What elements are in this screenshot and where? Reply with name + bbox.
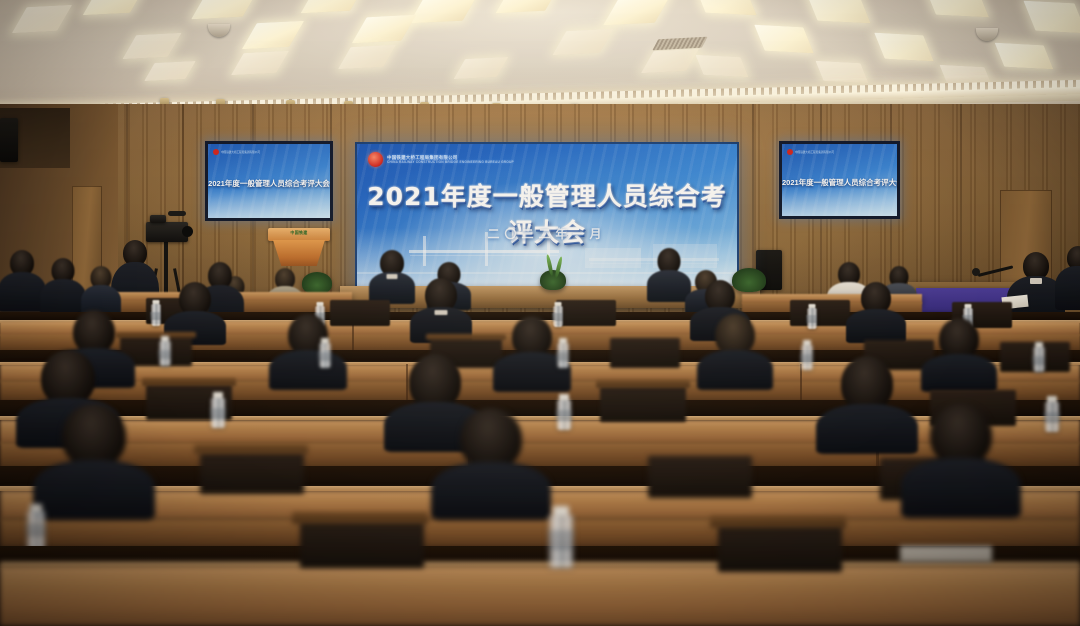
bottle-label (158, 350, 171, 359)
person-head (460, 408, 522, 470)
water-bottle (150, 300, 161, 326)
side-screen-title: 2021年度一般管理人员综合考评大会 (782, 177, 897, 188)
screen-logo: 中国铁建大桥工程局集团有限公司 (787, 149, 834, 155)
person-torso (697, 350, 773, 390)
side-screen-title: 2021年度一般管理人员综合考评大会 (208, 178, 330, 189)
person-torso (33, 460, 155, 520)
chair-row4-frame (142, 378, 236, 386)
bridge-motif (409, 250, 559, 253)
chair-row6 (718, 524, 842, 572)
screen-company-logo: 中国铁建大桥工程局集团有限公司 CHINA RAILWAY CONSTRUCTI… (368, 152, 514, 167)
desk-document (900, 546, 992, 562)
person-torso (431, 462, 551, 520)
chair-row5 (200, 452, 304, 494)
water-bottle (556, 338, 569, 368)
bottle-label (318, 352, 331, 361)
attendee-row2-d (848, 282, 904, 334)
screen-logo-text: 中国铁建大桥工程局集团有限公司 (221, 151, 260, 154)
bottle-label (548, 530, 574, 550)
ceiling-light-panel (695, 55, 748, 77)
lectern-top: 中国铁建 (268, 228, 330, 241)
water-bottle (210, 392, 226, 428)
company-logo-mark-icon (787, 149, 793, 155)
chair-row2 (790, 300, 850, 326)
desk-seam (352, 322, 354, 352)
screen-artwork (208, 188, 330, 218)
attendee-row4-c (820, 356, 914, 432)
bottle-cap (30, 504, 42, 511)
attendee-front-1 (370, 250, 414, 298)
wall-speaker-left (0, 118, 18, 162)
lectern-body (273, 240, 325, 266)
camera-lens-icon (182, 226, 193, 237)
bottle-label (556, 352, 569, 361)
side-potted-plant-left (302, 272, 332, 294)
attendee-row3-b (272, 314, 344, 374)
chair-row5-frame (194, 444, 308, 454)
bottle-label (556, 410, 572, 421)
person-torso (816, 404, 918, 454)
bottle-label (210, 408, 226, 419)
microphone-head-icon (972, 268, 980, 276)
water-bottle (1032, 342, 1045, 372)
company-name-en: CHINA RAILWAY CONSTRUCTION BRIDGE ENGINE… (387, 160, 514, 164)
attendee-row5-a (38, 404, 150, 496)
bottle-label (1032, 356, 1045, 365)
conference-hall-photo: 中国铁建大桥工程局集团有限公司 2021年度一般管理人员综合考评大会 中国铁建大… (0, 0, 1080, 626)
company-logo-mark-icon (213, 149, 219, 155)
person-torso (1055, 266, 1080, 310)
water-bottle (158, 336, 171, 366)
chair-row4-frame (596, 380, 690, 388)
chair-row3-frame (426, 334, 506, 340)
water-bottle (556, 394, 572, 430)
bottle-label (806, 315, 817, 323)
chair-row5 (648, 456, 752, 498)
desk-row-6-foreground (0, 566, 1080, 626)
person-torso (921, 354, 997, 392)
person-collar (387, 274, 398, 279)
person-torso (846, 309, 906, 343)
attendee-row2-b (412, 278, 470, 332)
attendee-row3-d (700, 314, 770, 374)
water-bottle (800, 340, 813, 370)
camera-shotgun-mic (168, 211, 186, 216)
screen-artwork (782, 187, 897, 216)
stage-potted-plant (540, 270, 566, 290)
desk-row-5-front (0, 518, 1080, 548)
chair-row4 (600, 386, 686, 422)
person-torso (269, 350, 347, 390)
water-bottle (548, 506, 574, 568)
company-logo-mark-icon (368, 152, 383, 167)
screen-logo-text: 中国铁建大桥工程局集团有限公司 (795, 151, 834, 154)
person-collar (435, 310, 448, 315)
bottle-cap (553, 506, 569, 515)
screen-logo: 中国铁建大桥工程局集团有限公司 (213, 149, 260, 155)
attendee-row1-a (0, 250, 44, 306)
person-head (930, 404, 992, 466)
video-camera-viewfinder (150, 215, 166, 223)
left-side-screen: 中国铁建大桥工程局集团有限公司 2021年度一般管理人员综合考评大会 (205, 141, 333, 221)
water-bottle (806, 304, 817, 329)
water-bottle (1044, 396, 1060, 432)
person-torso (647, 270, 691, 302)
attendee-row5-c (906, 404, 1016, 496)
right-side-screen: 中国铁建大桥工程局集团有限公司 2021年度一般管理人员综合考评大会 (779, 141, 900, 219)
water-bottle (26, 504, 46, 550)
chair-row6 (300, 520, 424, 568)
bottle-label (1044, 412, 1060, 423)
chair-row6-frame (292, 512, 428, 524)
attendee-row3-e (924, 318, 994, 376)
bottle-label (800, 354, 813, 363)
person-torso (901, 458, 1021, 518)
chair-row3 (610, 338, 680, 368)
water-bottle (318, 338, 331, 368)
ceiling-light-panel (995, 43, 1054, 70)
bottle-label (150, 312, 161, 320)
speaker-collar (1030, 278, 1042, 284)
person-head (62, 404, 126, 468)
attendee-row5-b (436, 408, 546, 498)
chair-row6-frame (710, 516, 846, 528)
lectern-label: 中国铁建 (276, 230, 322, 236)
attendee-row1-b (42, 258, 84, 312)
attendee-row2-a (166, 282, 224, 334)
attendee-front-3 (648, 248, 690, 298)
bottle-label (26, 523, 46, 537)
screen-date-line: 二〇二二年一月 (357, 225, 737, 242)
assistant-right-rear (1056, 246, 1080, 306)
attendee-row1-c (82, 266, 120, 314)
